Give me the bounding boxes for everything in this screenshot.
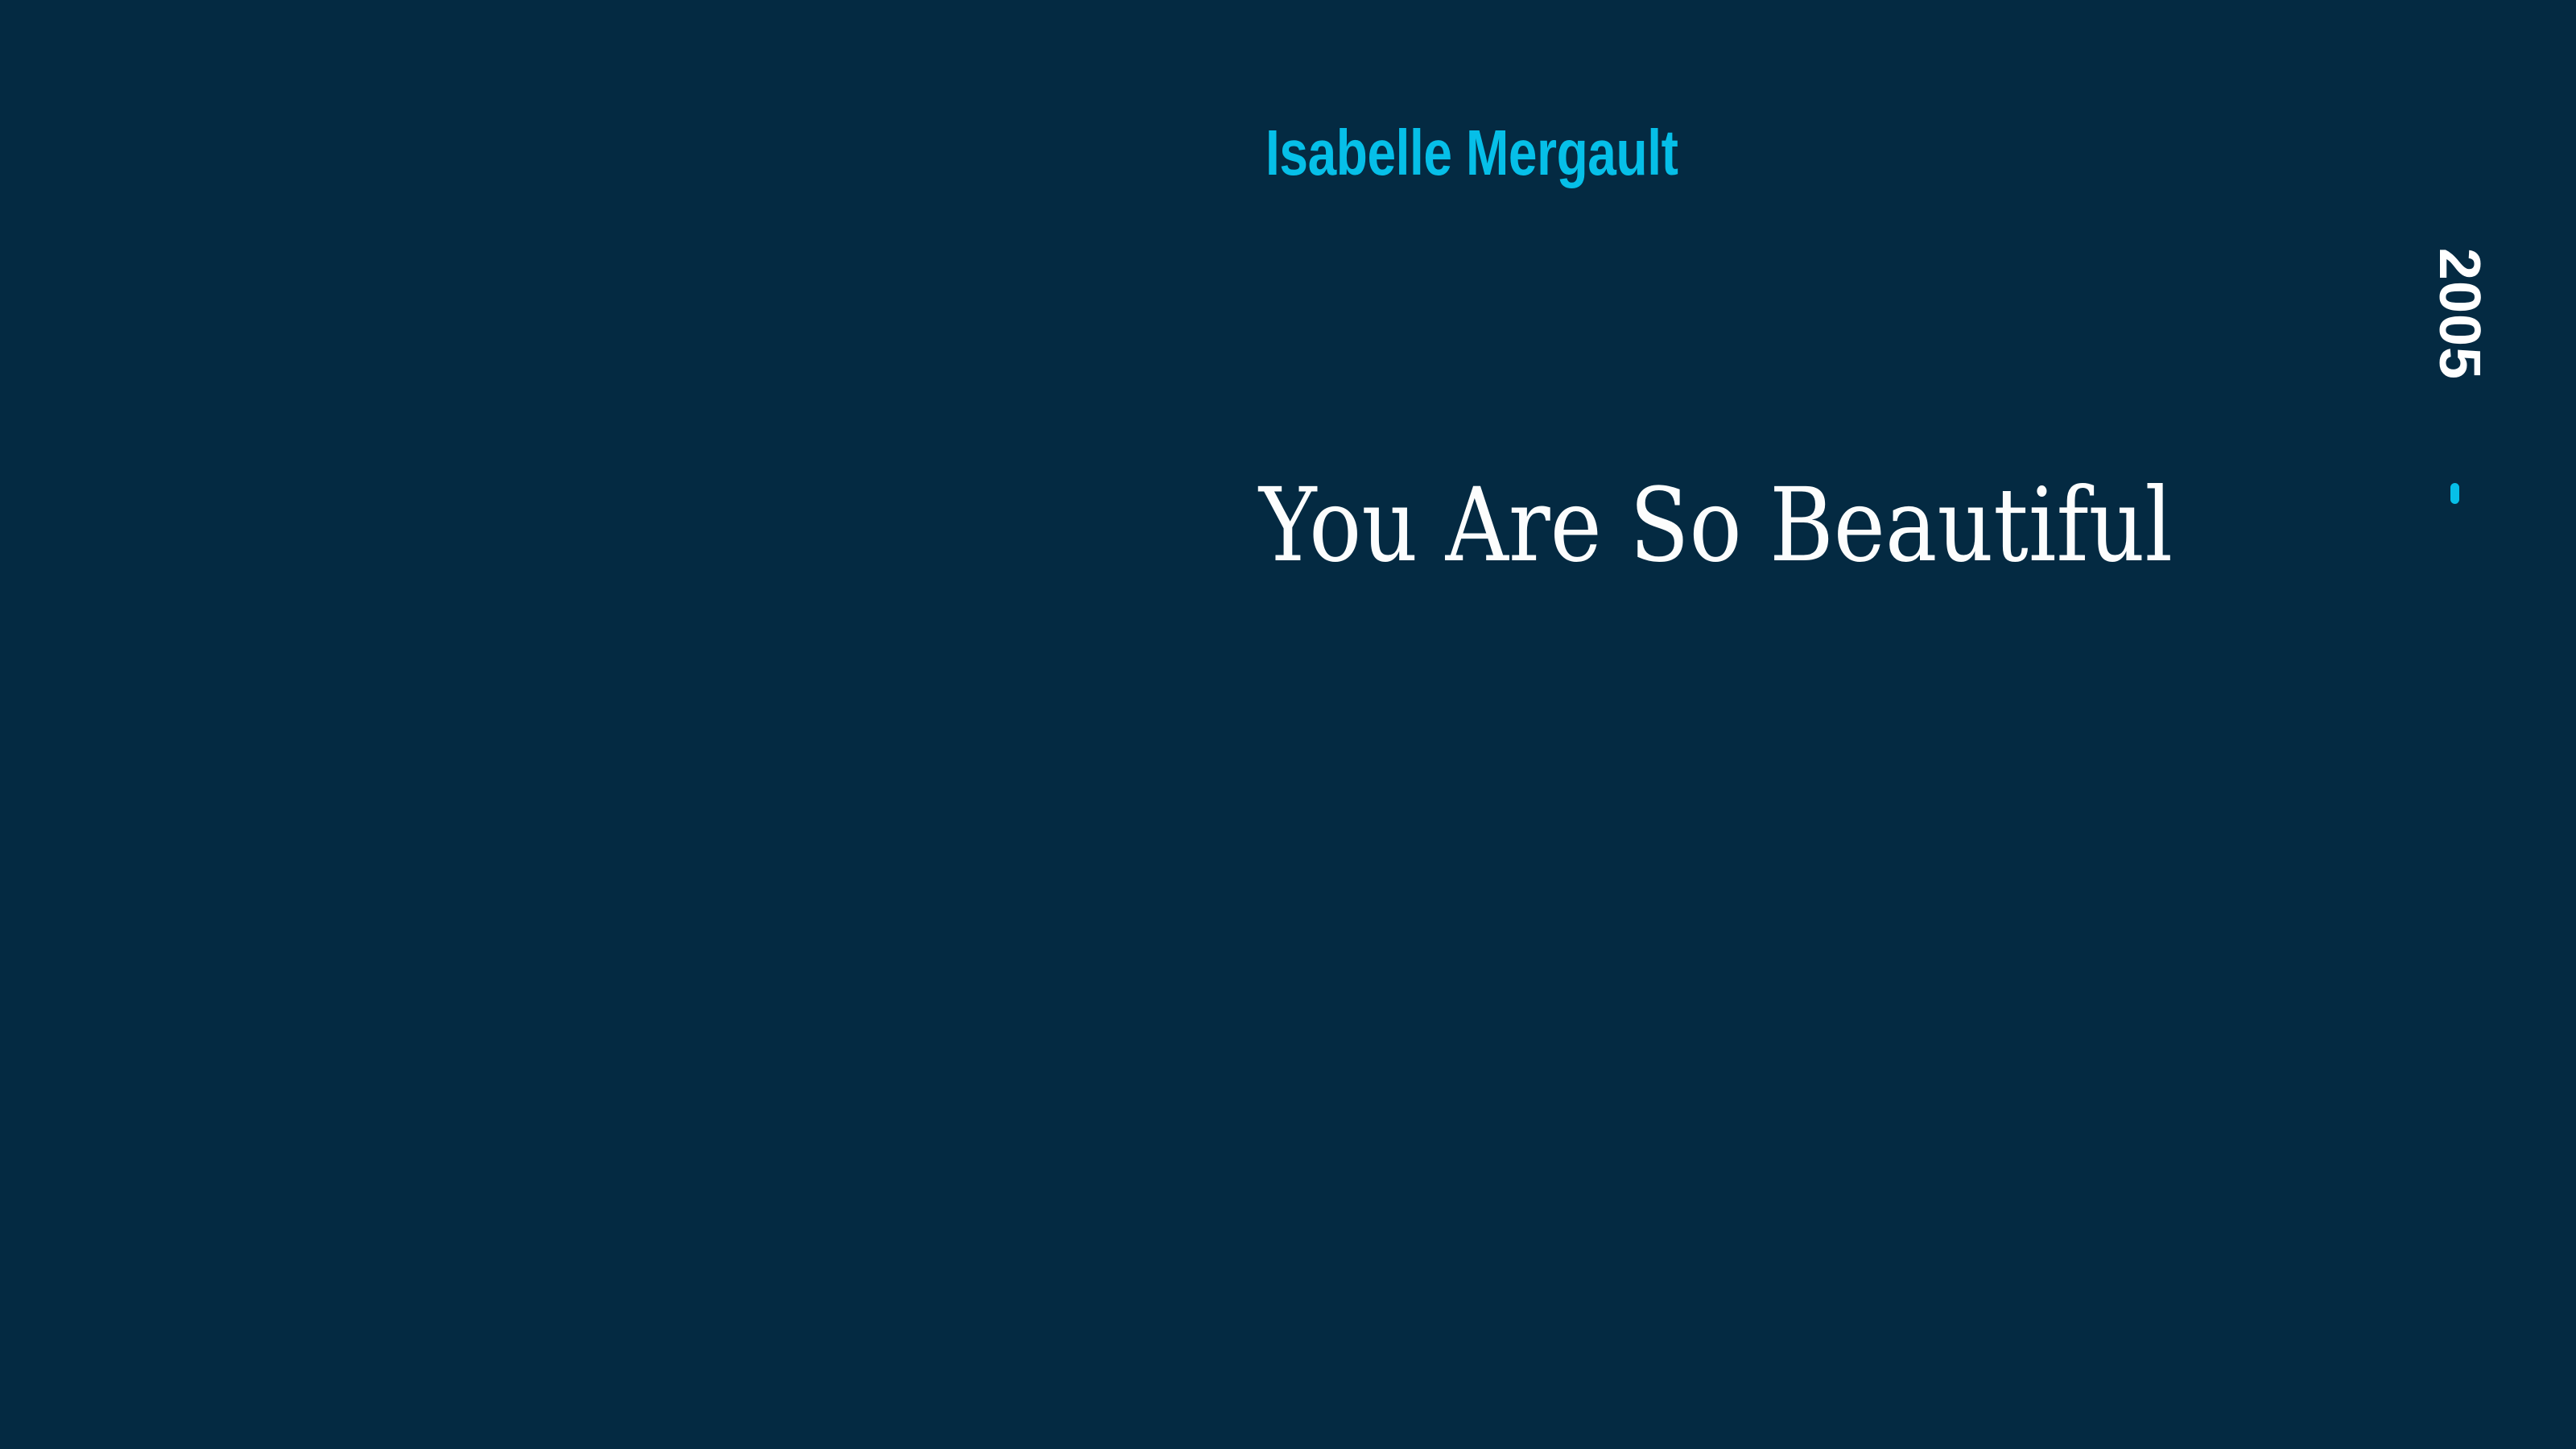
year-rail: 2005 (2423, 225, 2495, 402)
accent-tick-icon (2450, 483, 2459, 504)
year-label: 2005 (2430, 248, 2488, 380)
artist-name: Isabelle Mergault (1265, 121, 1678, 185)
film-title: You Are So Beautiful (1259, 475, 2173, 576)
poster-canvas: Isabelle Mergault You Are So Beautiful 2… (0, 0, 2576, 1449)
